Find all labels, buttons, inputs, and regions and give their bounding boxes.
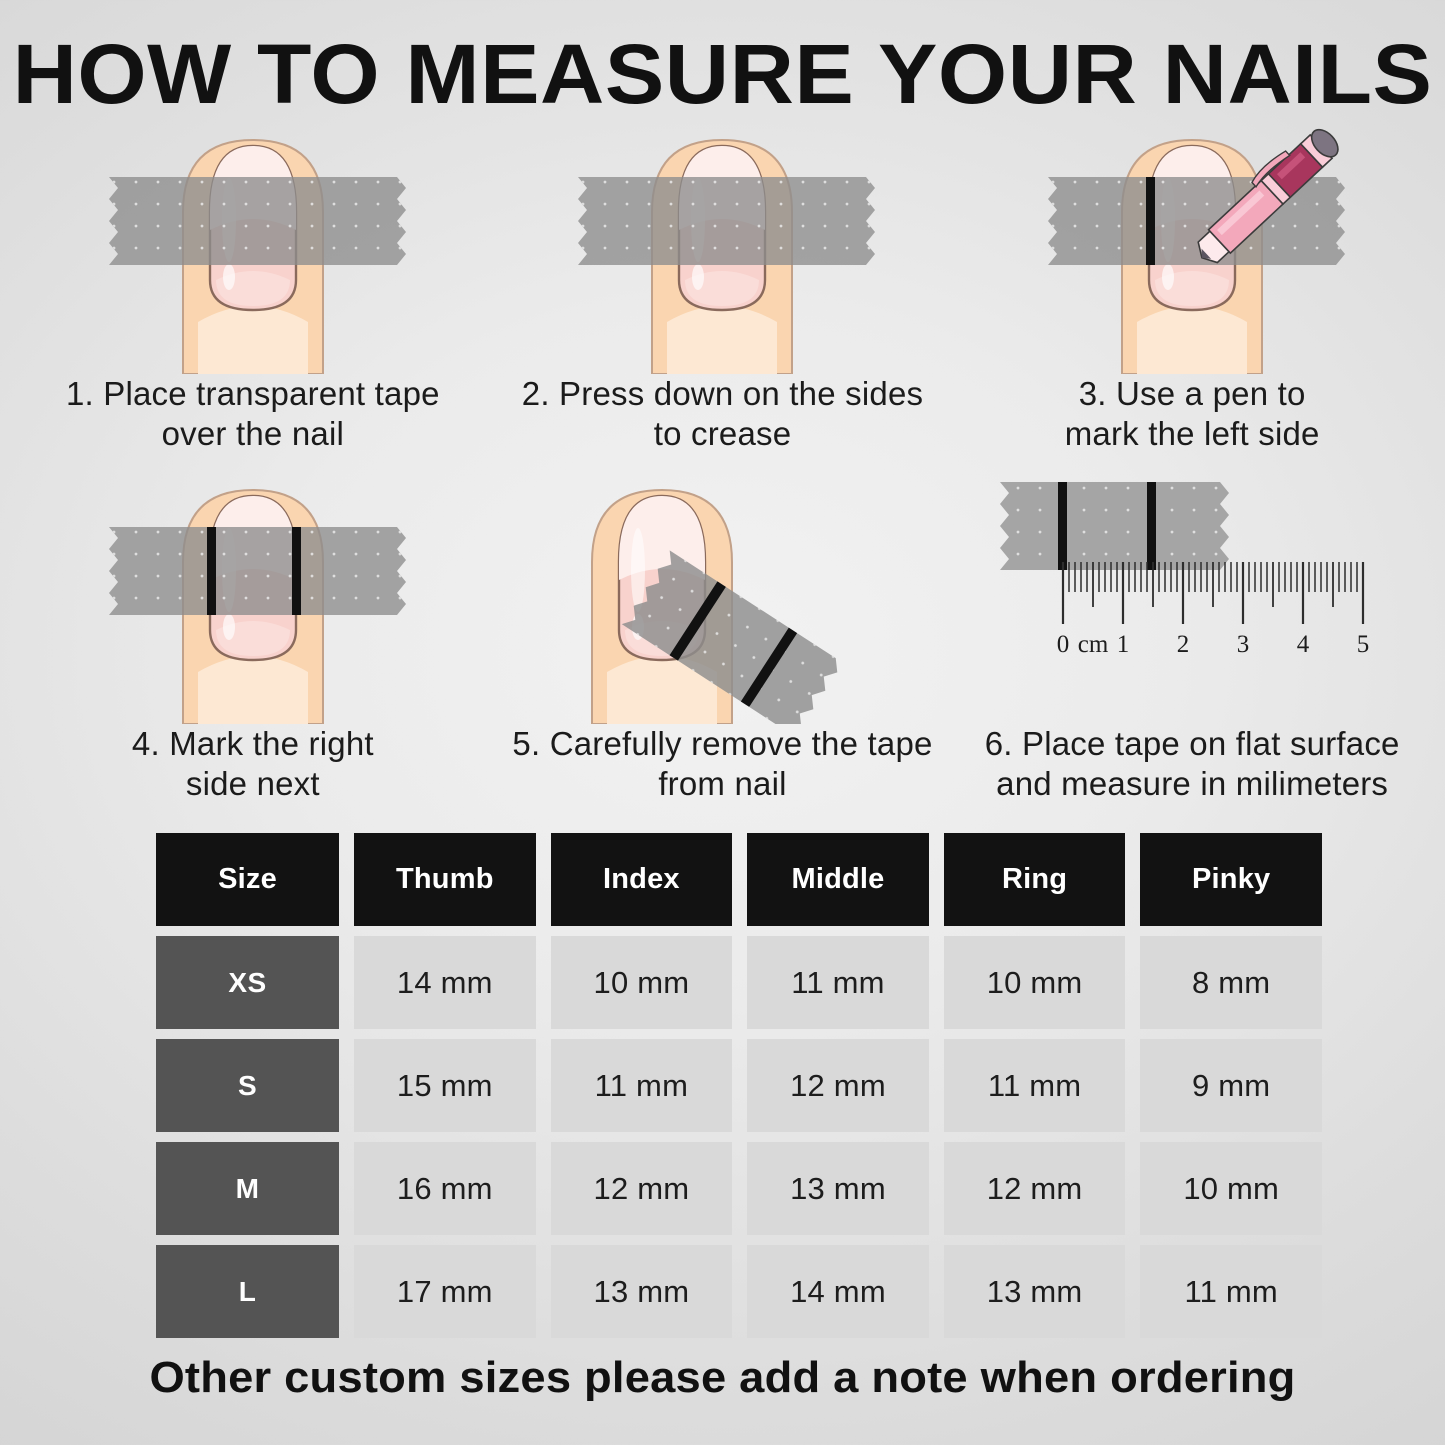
step-6-caption-line1: 6. Place tape on flat surface bbox=[985, 725, 1400, 762]
ruler-tick-2: 2 bbox=[1177, 631, 1190, 658]
size-table: Size Thumb Index Middle Ring Pinky XS 14… bbox=[156, 833, 1322, 1338]
step-4-caption-line2: side next bbox=[186, 765, 320, 802]
step-3-caption-line2: mark the left side bbox=[1065, 415, 1320, 452]
finger-tape-pen-left-mark-icon bbox=[1027, 112, 1357, 374]
table-cell-s-index: 11 mm bbox=[551, 1039, 733, 1132]
step-6-caption-line2: and measure in milimeters bbox=[996, 765, 1388, 802]
page-title: HOW TO MEASURE YOUR NAILS bbox=[0, 26, 1445, 123]
tape bbox=[1048, 177, 1345, 265]
step-6-illustration: 0 cm 1 2 3 4 5 bbox=[957, 462, 1427, 724]
finger-tape-creased-icon bbox=[557, 112, 887, 374]
table-cell-s-middle: 12 mm bbox=[747, 1039, 929, 1132]
steps-grid: 1. Place transparent tape over the nail bbox=[18, 112, 1427, 812]
table-cell-l-ring: 13 mm bbox=[944, 1245, 1126, 1338]
table-cell-m-index: 12 mm bbox=[551, 1142, 733, 1235]
left-mark bbox=[207, 527, 216, 615]
table-cell-m-pinky: 10 mm bbox=[1140, 1142, 1322, 1235]
step-3-caption: 3. Use a pen to mark the left side bbox=[957, 374, 1427, 454]
left-mark bbox=[1146, 177, 1155, 265]
step-2-caption: 2. Press down on the sides to crease bbox=[488, 374, 958, 454]
tape bbox=[578, 177, 875, 265]
ruler bbox=[1063, 562, 1363, 624]
step-2-caption-line2: to crease bbox=[654, 415, 792, 452]
table-cell-xs-pinky: 8 mm bbox=[1140, 936, 1322, 1029]
table-cell-l-pinky: 11 mm bbox=[1140, 1245, 1322, 1338]
step-5-caption-line2: from nail bbox=[658, 765, 786, 802]
table-row-size-xs: XS bbox=[156, 936, 339, 1029]
footer-note: Other custom sizes please add a note whe… bbox=[0, 1353, 1445, 1403]
table-header-index: Index bbox=[551, 833, 733, 926]
step-5-caption-line1: 5. Carefully remove the tape bbox=[512, 725, 932, 762]
table-cell-m-middle: 13 mm bbox=[747, 1142, 929, 1235]
step-6: 0 cm 1 2 3 4 5 6. Place tape on flat sur… bbox=[957, 462, 1427, 812]
tape bbox=[1000, 482, 1229, 570]
finger-tape-two-marks-icon bbox=[88, 462, 418, 724]
step-1-illustration bbox=[18, 112, 488, 374]
step-1-caption-line2: over the nail bbox=[162, 415, 344, 452]
left-mark bbox=[1058, 482, 1067, 570]
step-4-illustration bbox=[18, 462, 488, 724]
table-row-size-l: L bbox=[156, 1245, 339, 1338]
tape-on-ruler-icon: 0 cm 1 2 3 4 5 bbox=[992, 462, 1392, 724]
right-mark bbox=[1147, 482, 1156, 570]
step-2: 2. Press down on the sides to crease bbox=[488, 112, 958, 462]
finger-with-tape-icon bbox=[88, 112, 418, 374]
step-5-caption: 5. Carefully remove the tape from nail bbox=[488, 724, 958, 804]
table-cell-m-thumb: 16 mm bbox=[354, 1142, 536, 1235]
ruler-tick-0: 0 bbox=[1057, 631, 1070, 658]
table-cell-l-thumb: 17 mm bbox=[354, 1245, 536, 1338]
step-5-illustration bbox=[488, 462, 958, 724]
ruler-labels: 0 cm 1 2 3 4 5 bbox=[1057, 631, 1370, 658]
table-header-middle: Middle bbox=[747, 833, 929, 926]
table-cell-s-ring: 11 mm bbox=[944, 1039, 1126, 1132]
step-4-caption-line1: 4. Mark the right bbox=[132, 725, 374, 762]
ruler-tick-5: 5 bbox=[1357, 631, 1370, 658]
table-row-size-s: S bbox=[156, 1039, 339, 1132]
ruler-tick-4: 4 bbox=[1297, 631, 1310, 658]
ruler-tick-1: 1 bbox=[1117, 631, 1130, 658]
right-mark bbox=[292, 527, 301, 615]
ruler-unit-label: cm bbox=[1078, 631, 1109, 658]
table-row-size-m: M bbox=[156, 1142, 339, 1235]
infographic-page: HOW TO MEASURE YOUR NAILS bbox=[0, 0, 1445, 1445]
step-2-illustration bbox=[488, 112, 958, 374]
finger-tape-peeling-icon bbox=[557, 462, 887, 724]
step-1-caption: 1. Place transparent tape over the nail bbox=[18, 374, 488, 454]
table-header-ring: Ring bbox=[944, 833, 1126, 926]
table-cell-l-middle: 14 mm bbox=[747, 1245, 929, 1338]
ruler-tick-3: 3 bbox=[1237, 631, 1250, 658]
table-cell-l-index: 13 mm bbox=[551, 1245, 733, 1338]
step-4-caption: 4. Mark the right side next bbox=[18, 724, 488, 804]
table-header-pinky: Pinky bbox=[1140, 833, 1322, 926]
step-1: 1. Place transparent tape over the nail bbox=[18, 112, 488, 462]
table-cell-s-thumb: 15 mm bbox=[354, 1039, 536, 1132]
step-3-caption-line1: 3. Use a pen to bbox=[1079, 375, 1306, 412]
table-cell-xs-middle: 11 mm bbox=[747, 936, 929, 1029]
step-5: 5. Carefully remove the tape from nail bbox=[488, 462, 958, 812]
step-6-caption: 6. Place tape on flat surface and measur… bbox=[957, 724, 1427, 804]
table-header-thumb: Thumb bbox=[354, 833, 536, 926]
step-4: 4. Mark the right side next bbox=[18, 462, 488, 812]
step-3: 3. Use a pen to mark the left side bbox=[957, 112, 1427, 462]
table-cell-m-ring: 12 mm bbox=[944, 1142, 1126, 1235]
step-2-caption-line1: 2. Press down on the sides bbox=[522, 375, 923, 412]
step-1-caption-line1: 1. Place transparent tape bbox=[66, 375, 440, 412]
table-header-size: Size bbox=[156, 833, 339, 926]
step-3-illustration bbox=[957, 112, 1427, 374]
table-cell-xs-thumb: 14 mm bbox=[354, 936, 536, 1029]
tape bbox=[109, 527, 406, 615]
table-cell-xs-index: 10 mm bbox=[551, 936, 733, 1029]
tape bbox=[109, 177, 406, 265]
table-cell-s-pinky: 9 mm bbox=[1140, 1039, 1322, 1132]
table-cell-xs-ring: 10 mm bbox=[944, 936, 1126, 1029]
